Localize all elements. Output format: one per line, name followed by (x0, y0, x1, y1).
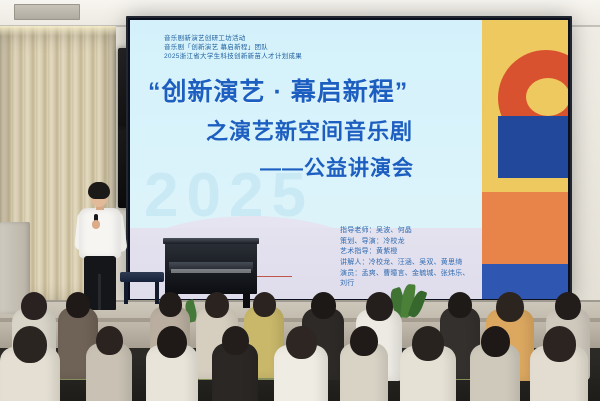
slide-title-line-2: 之演艺新空间音乐剧 (148, 114, 488, 146)
audience-member-head (21, 292, 47, 320)
audience-member-head (159, 292, 182, 317)
piano-bench (120, 272, 164, 282)
slide-header-line-1: 音乐剧新演艺创研工坊活动 (164, 34, 302, 43)
audience-member-head (496, 292, 524, 322)
curtain-left-glow (0, 26, 116, 36)
graphic-blue-block (498, 116, 568, 178)
audience-member-head (448, 292, 472, 318)
presenter-shirt (79, 208, 121, 258)
presenter-hand (92, 220, 100, 229)
audience-member-head (286, 326, 317, 359)
audience (0, 286, 600, 401)
audience-member-head (13, 326, 47, 363)
audience-member-head (555, 292, 581, 320)
audience-member-head (253, 292, 276, 317)
audience-member-head (481, 326, 510, 357)
audience-member-head (366, 292, 393, 321)
credit-line-director: 策划、导演：冷校龙 (340, 237, 568, 248)
piano-keys (171, 269, 251, 273)
credit-line-advisors: 指导老师：吴波、何晶 (340, 226, 568, 237)
audience-member-head (222, 326, 249, 355)
credit-line-narrators: 讲解人：冷校龙、汪涵、吴双、黄思绮 (340, 258, 568, 269)
graphic-circle-cutout (526, 78, 568, 116)
slide-header-block: 音乐剧新演艺创研工坊活动 音乐剧「创新演艺 幕启新程」团队 2025浙江省大学生… (164, 34, 302, 62)
audience-member-head (412, 326, 444, 361)
audience-member-head (157, 326, 187, 358)
audience-member-head (96, 326, 123, 355)
slide-credits-block: 指导老师：吴波、何晶 策划、导演：冷校龙 艺术指导：黄紫橙 讲解人：冷校龙、汪涵… (340, 226, 568, 290)
slide-header-line-2: 音乐剧「创新演艺 幕启新程」团队 (164, 43, 302, 52)
ceiling-vent (14, 4, 80, 20)
audience-member-head (311, 292, 336, 319)
credit-line-artistic: 艺术指导：黄紫橙 (340, 247, 568, 258)
slide-title-line-1: “创新演艺 · 幕启新程” (148, 72, 488, 108)
audience-member-head (543, 326, 576, 362)
credit-line-actors: 演员：孟爽、曹曈言、金毓城、张炜乐、 (340, 269, 568, 280)
slide-header-line-3: 2025浙江省大学生科技创新新苗人才计划成果 (164, 52, 302, 61)
slide-title-line-3: ——公益讲演会 (148, 152, 488, 182)
slide-title-block: “创新演艺 · 幕启新程” 之演艺新空间音乐剧 ——公益讲演会 (148, 72, 488, 182)
piano-lid (163, 238, 259, 244)
audience-member-head (350, 326, 378, 356)
presenter-hair (88, 182, 110, 199)
screenshot-root: 2025 音乐剧新演艺创研工坊活动 音乐剧「创新演艺 幕启新程」团队 2025浙… (0, 0, 600, 401)
audience-member-head (205, 292, 229, 318)
audience-member-head (66, 292, 90, 318)
